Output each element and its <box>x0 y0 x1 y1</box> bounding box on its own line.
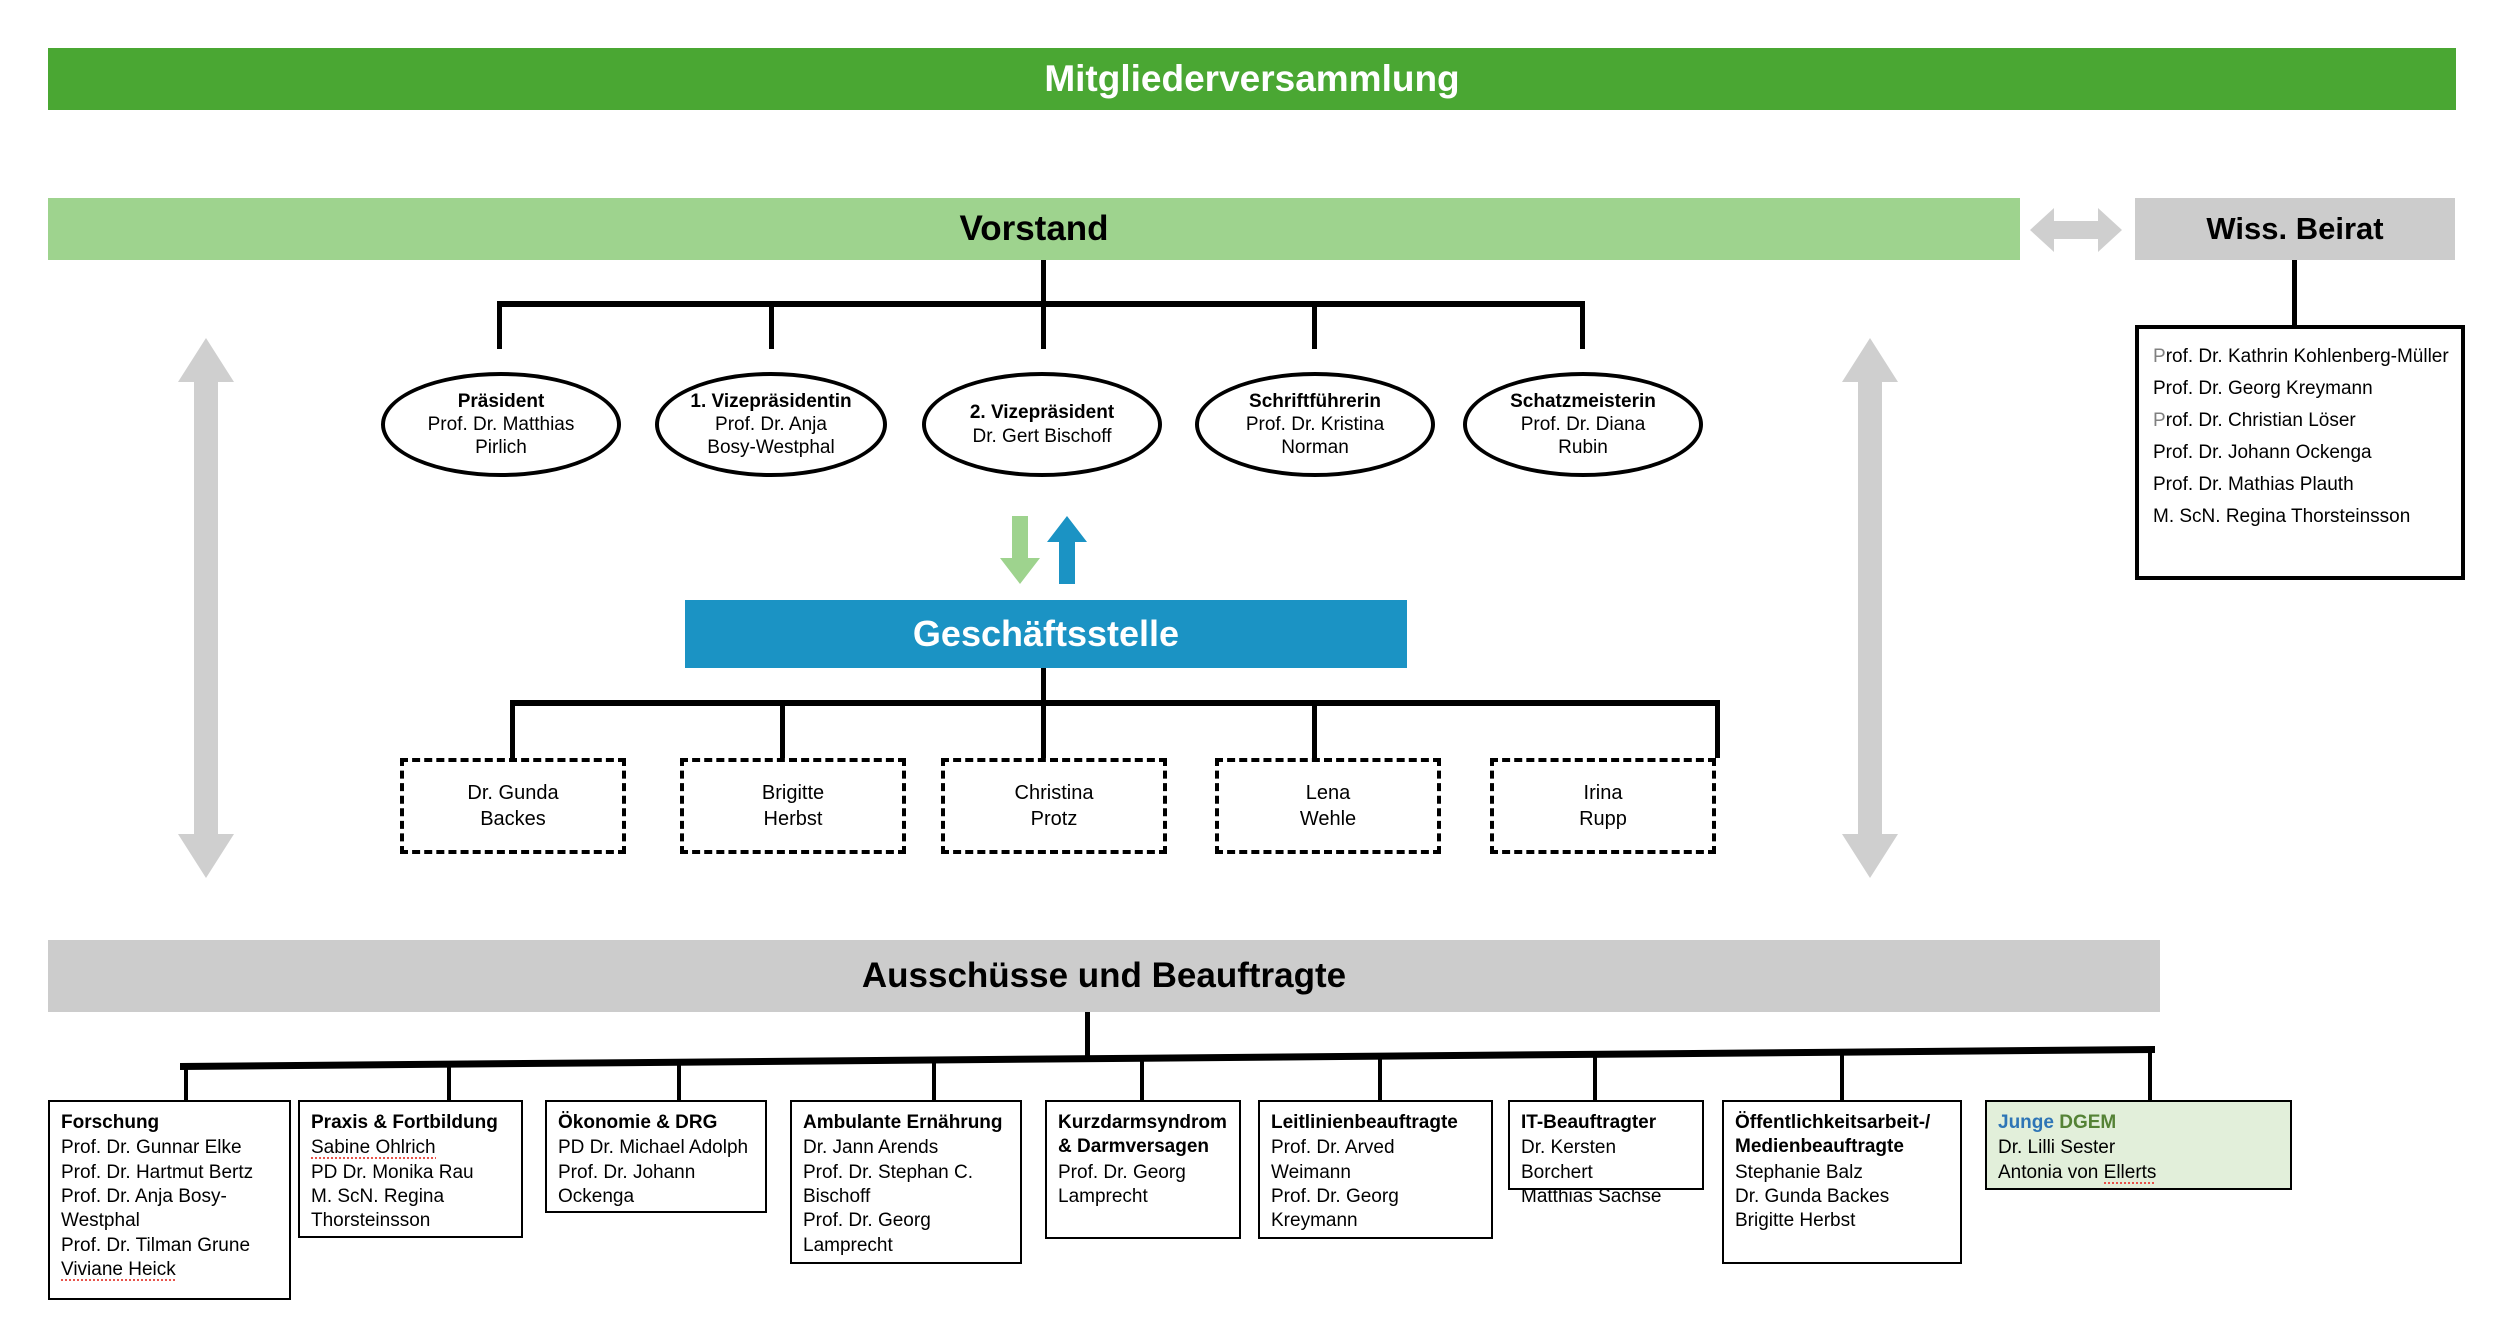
connector-drop-4 <box>1312 301 1317 349</box>
board-member-name-line: Prof. Dr. Anja <box>715 413 827 436</box>
list-item: Prof. Dr. Kathrin Kohlenberg-Müller <box>2153 341 2447 373</box>
office-staff-name-line: Herbst <box>764 806 823 832</box>
committee-title: Forschung <box>61 1111 279 1135</box>
committee-title: Kurzdarmsyndrom & Darmversagen <box>1058 1111 1229 1160</box>
connector-staff-drop-1 <box>510 700 515 758</box>
committee-member: Viviane Heick <box>61 1258 279 1282</box>
committee-title: Ambulante Ernährung <box>803 1111 1010 1135</box>
board-member-2-vizepraesident: 2. Vizepräsident Dr. Gert Bischoff <box>922 372 1162 477</box>
committee-member: Antonia von Ellerts <box>1998 1161 2280 1185</box>
committee-box-oekonomie-drg: Ökonomie & DRG PD Dr. Michael Adolph Pro… <box>545 1100 767 1213</box>
board-member-name-line: Pirlich <box>475 436 527 459</box>
wiss-beirat-member-list: Prof. Dr. Kathrin Kohlenberg-Müller Prof… <box>2135 325 2465 580</box>
banner-wiss-beirat: Wiss. Beirat <box>2135 198 2455 260</box>
committee-member: Prof. Dr. Stephan C. <box>803 1161 1010 1185</box>
connector-committee-bus <box>180 1046 2155 1072</box>
board-member-name-line: Prof. Dr. Matthias <box>428 413 575 436</box>
committee-member: PD Dr. Michael Adolph <box>558 1136 755 1160</box>
committee-box-forschung: Forschung Prof. Dr. Gunnar Elke Prof. Dr… <box>48 1100 291 1300</box>
connector-beirat-vertical <box>2292 260 2297 325</box>
office-staff-box: Brigitte Herbst <box>680 758 906 854</box>
committee-member: Prof. Dr. Tilman Grune <box>61 1234 279 1258</box>
connector-committee-drop-9 <box>2148 1047 2152 1100</box>
office-staff-name-line: Brigitte <box>762 780 824 806</box>
connector-drop-3 <box>1041 301 1046 349</box>
office-staff-name-line: Protz <box>1031 806 1078 832</box>
office-staff-box: Dr. Gunda Backes <box>400 758 626 854</box>
office-staff-name-line: Wehle <box>1300 806 1356 832</box>
board-member-schriftfuehrerin: Schriftführerin Prof. Dr. Kristina Norma… <box>1195 372 1435 477</box>
committee-member: Prof. Dr. Georg <box>1271 1185 1481 1209</box>
board-member-role: 2. Vizepräsident <box>970 401 1114 424</box>
connector-committee-drop-1 <box>184 1064 188 1100</box>
double-arrow-vertical-icon <box>178 338 234 878</box>
board-member-1-vizepraesidentin: 1. Vizepräsidentin Prof. Dr. Anja Bosy-W… <box>655 372 887 477</box>
banner-ausschuesse-label: Ausschüsse und Beauftragte <box>862 956 1346 996</box>
committee-member: Prof. Dr. Anja Bosy- <box>61 1185 279 1209</box>
committee-box-ambulante-ernaehrung: Ambulante Ernährung Dr. Jann Arends Prof… <box>790 1100 1022 1264</box>
committee-title: Leitlinienbeauftragte <box>1271 1111 1481 1135</box>
board-member-praesident: Präsident Prof. Dr. Matthias Pirlich <box>381 372 621 477</box>
office-staff-name-line: Rupp <box>1579 806 1627 832</box>
banner-geschaeftsstelle-label: Geschäftsstelle <box>913 613 1179 655</box>
committee-title: Praxis & Fortbildung <box>311 1111 511 1135</box>
committee-title: IT-Beauftragter <box>1521 1111 1692 1135</box>
committee-box-kurzdarmsyndrom: Kurzdarmsyndrom & Darmversagen Prof. Dr.… <box>1045 1100 1241 1239</box>
double-arrow-horizontal-icon <box>2030 202 2122 258</box>
committee-member: Sabine Ohlrich <box>311 1136 511 1160</box>
committee-box-oeffentlichkeitsarbeit: Öffentlichkeitsarbeit-/ Medienbeauftragt… <box>1722 1100 1962 1264</box>
list-item: M. ScN. Regina Thorsteinsson <box>2153 501 2447 533</box>
office-staff-box: Christina Protz <box>941 758 1167 854</box>
board-member-name-line: Norman <box>1281 436 1349 459</box>
connector-office-bus <box>510 700 1720 706</box>
board-member-role: Präsident <box>458 390 545 413</box>
connector-drop-1 <box>497 301 502 349</box>
connector-staff-drop-4 <box>1312 700 1317 758</box>
banner-wiss-beirat-label: Wiss. Beirat <box>2206 211 2383 247</box>
connector-office-stem <box>1041 668 1046 704</box>
connector-committee-drop-8 <box>1840 1049 1844 1100</box>
connector-committee-drop-5 <box>1140 1055 1144 1100</box>
connector-committee-drop-2 <box>447 1061 451 1100</box>
committee-title: Öffentlichkeitsarbeit-/ Medienbeauftragt… <box>1735 1111 1950 1160</box>
double-arrow-vertical-icon <box>1842 338 1898 878</box>
office-staff-box: Lena Wehle <box>1215 758 1441 854</box>
connector-committee-drop-4 <box>932 1057 936 1100</box>
banner-geschaeftsstelle: Geschäftsstelle <box>685 600 1407 668</box>
committee-member: Lamprecht <box>1058 1185 1229 1209</box>
list-item: Prof. Dr. Johann Ockenga <box>2153 437 2447 469</box>
list-item: Prof. Dr. Christian Löser <box>2153 405 2447 437</box>
connector-staff-drop-2 <box>780 700 785 758</box>
connector-vorstand-stem <box>1041 260 1046 305</box>
board-member-name-line: Bosy-Westphal <box>707 436 834 459</box>
committee-box-praxis-fortbildung: Praxis & Fortbildung Sabine Ohlrich PD D… <box>298 1100 523 1238</box>
board-member-name-line: Prof. Dr. Diana <box>1521 413 1646 436</box>
committee-member: Stephanie Balz <box>1735 1161 1950 1185</box>
connector-drop-2 <box>769 301 774 349</box>
office-staff-name-line: Irina <box>1584 780 1623 806</box>
list-item: Prof. Dr. Georg Kreymann <box>2153 373 2447 405</box>
arrow-up-icon <box>1047 516 1087 584</box>
committee-member: Dr. Gunda Backes <box>1735 1185 1950 1209</box>
office-staff-name-line: Lena <box>1306 780 1351 806</box>
org-chart-canvas: Mitgliederversammlung Vorstand Wiss. Bei… <box>0 0 2500 1344</box>
committee-member: Prof. Dr. Georg <box>1058 1161 1229 1185</box>
committee-member: Ockenga <box>558 1185 755 1209</box>
banner-mitgliederversammlung: Mitgliederversammlung <box>48 48 2456 110</box>
committee-member: Prof. Dr. Arved <box>1271 1136 1481 1160</box>
committee-member: Kreymann <box>1271 1209 1481 1233</box>
office-staff-name-line: Christina <box>1015 780 1094 806</box>
committee-box-junge-dgem: Junge DGEM Dr. Lilli Sester Antonia von … <box>1985 1100 2292 1190</box>
committee-box-it-beauftragter: IT-Beauftragter Dr. Kersten Borchert Mat… <box>1508 1100 1704 1190</box>
list-item: Prof. Dr. Mathias Plauth <box>2153 469 2447 501</box>
committee-member: Thorsteinsson <box>311 1209 511 1233</box>
board-member-name-line: Dr. Gert Bischoff <box>972 425 1111 448</box>
board-member-schatzmeisterin: Schatzmeisterin Prof. Dr. Diana Rubin <box>1463 372 1703 477</box>
connector-drop-5 <box>1580 301 1585 349</box>
committee-member: Brigitte Herbst <box>1735 1209 1950 1233</box>
arrow-down-icon <box>1000 516 1040 584</box>
office-staff-name-line: Dr. Gunda <box>467 780 558 806</box>
connector-committee-drop-3 <box>677 1059 681 1100</box>
banner-vorstand: Vorstand <box>48 198 2020 260</box>
committee-member: Prof. Dr. Georg <box>803 1209 1010 1233</box>
board-member-role: 1. Vizepräsidentin <box>690 390 851 413</box>
connector-committee-drop-6 <box>1378 1053 1382 1100</box>
committee-member: PD Dr. Monika Rau <box>311 1161 511 1185</box>
board-member-name-line: Rubin <box>1558 436 1608 459</box>
committee-member: M. ScN. Regina <box>311 1185 511 1209</box>
office-staff-name-line: Backes <box>480 806 546 832</box>
committee-box-leitlinienbeauftragte: Leitlinienbeauftragte Prof. Dr. Arved We… <box>1258 1100 1493 1239</box>
committee-member: Prof. Dr. Gunnar Elke <box>61 1136 279 1160</box>
office-staff-box: Irina Rupp <box>1490 758 1716 854</box>
banner-mitgliederversammlung-label: Mitgliederversammlung <box>1044 58 1459 100</box>
board-member-role: Schatzmeisterin <box>1510 390 1656 413</box>
banner-vorstand-label: Vorstand <box>959 209 1108 249</box>
committee-member: Prof. Dr. Johann <box>558 1161 755 1185</box>
committee-title: Ökonomie & DRG <box>558 1111 755 1135</box>
committee-member: Dr. Jann Arends <box>803 1136 1010 1160</box>
committee-member: Weimann <box>1271 1161 1481 1185</box>
committee-title: Junge DGEM <box>1998 1111 2280 1135</box>
connector-staff-drop-3 <box>1041 700 1046 758</box>
committee-member: Prof. Dr. Hartmut Bertz <box>61 1161 279 1185</box>
connector-committee-drop-7 <box>1593 1051 1597 1100</box>
committee-member: Dr. Lilli Sester <box>1998 1136 2280 1160</box>
banner-ausschuesse: Ausschüsse und Beauftragte <box>48 940 2160 1012</box>
board-member-name-line: Prof. Dr. Kristina <box>1246 413 1384 436</box>
committee-member: Westphal <box>61 1209 279 1233</box>
board-member-role: Schriftführerin <box>1249 390 1381 413</box>
committee-member: Dr. Kersten Borchert <box>1521 1136 1692 1185</box>
committee-member: Matthias Sachse <box>1521 1185 1692 1209</box>
committee-member: Lamprecht <box>803 1234 1010 1258</box>
committee-member: Bischoff <box>803 1185 1010 1209</box>
connector-staff-drop-5 <box>1715 700 1720 758</box>
